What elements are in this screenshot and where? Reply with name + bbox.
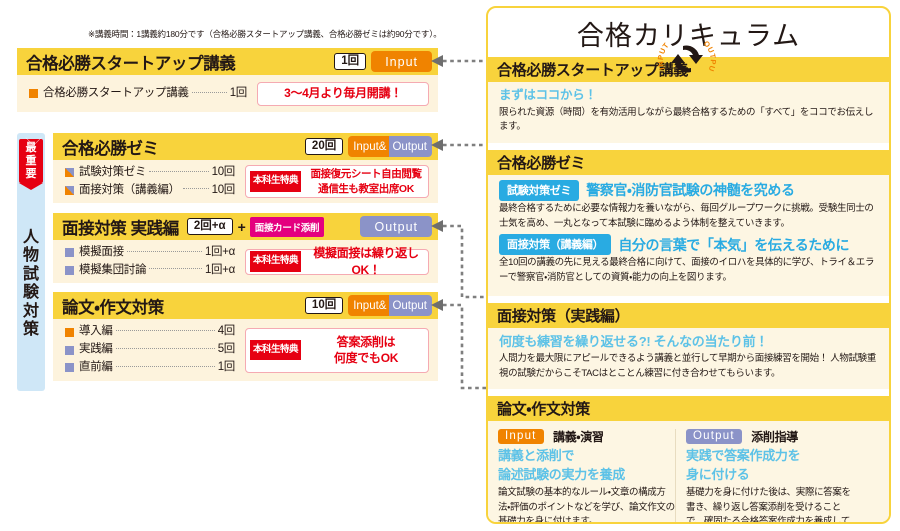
bullet-square-icon (65, 168, 74, 177)
rail-label-char: 物 (17, 247, 45, 265)
leader-dots (192, 92, 227, 93)
section-header: 合格必勝ゼミ (488, 150, 889, 175)
rail-vertical-label: 人物試験対策 (17, 229, 45, 339)
input-output-cycle-icon: INPUT OUTPUT (658, 30, 716, 88)
lesson-name: 試験対策ゼミ (79, 164, 146, 182)
callout-text: 3～4月より毎月開講！ (258, 85, 428, 101)
course-card-zemi: 合格必勝ゼミ 20回 Input& Output 試験対策ゼミ 10回 面接対策… (53, 133, 438, 203)
svg-text:INPUT: INPUT (656, 41, 671, 71)
lesson-count: 10回 (212, 164, 235, 182)
bullet-square-icon (65, 346, 74, 355)
section-description: 人間力を最大限にアピールできるよう講義と並行して早期から面接練習を開始！ 人物試… (499, 352, 880, 381)
lesson-list: 試験対策ゼミ 10回 面接対策（講義編） 10回 (65, 164, 235, 200)
output-chip: Output (686, 429, 742, 444)
sub-topic-row: 試験対策ゼミ 警察官・消防官試験の神髄を究める (499, 180, 880, 201)
column-lead: 実践で答案作成力を身に付ける (686, 447, 853, 483)
leader-dots (116, 348, 215, 349)
callout-benefit: 本科生特典 模擬面接は繰り返しOK！ (245, 249, 429, 275)
callout-benefit: 本科生特典 面接復元シート自由閲覧通信生も教室出席OK (245, 165, 429, 198)
card-body: 模擬面接 1回+α 模擬集団討論 1回+α 本科生特典 模擬面接は繰り返しOK！ (53, 240, 438, 283)
bullet-square-icon (65, 266, 74, 275)
bullet-square-icon (65, 248, 74, 257)
sparkle-icon: ＼ ／ (22, 138, 44, 146)
sub-topic-chip: 面接対策（講義編） (499, 234, 611, 255)
course-title: 論文・作文対策 (62, 294, 164, 318)
badge-output-segment: Output (360, 216, 432, 237)
list-item: 面接対策（講義編） 10回 (65, 182, 235, 200)
bullet-square-icon (65, 363, 74, 372)
section-header: 論文・作文対策 (488, 396, 889, 421)
lesson-count: 1回 (218, 359, 235, 377)
bullet-square-icon (65, 328, 74, 337)
section-body: まずはココから！ 限られた資源（時間）を有効活用しながら最終合格するための「すべ… (488, 82, 889, 143)
course-title: 合格必勝スタートアップ講義 (26, 50, 235, 74)
callout-text: 模擬面接は繰り返しOK！ (308, 245, 424, 277)
course-count-badge: 2回+α (187, 218, 233, 236)
input-output-badge: Input& Output (348, 295, 432, 316)
banner-char-2: 重 (19, 155, 43, 168)
column-output: Output 添削指導 実践で答案作成力を身に付ける 基礎力を身に付けた後は、実… (676, 427, 853, 524)
bullet-square-icon (65, 186, 74, 195)
detail-section-zemi: 合格必勝ゼミ 試験対策ゼミ 警察官・消防官試験の神髄を究める 最終合格するために… (488, 150, 889, 296)
list-item: 模擬面接 1回+α (65, 244, 235, 262)
card-header: 論文・作文対策 10回 Input& Output (53, 292, 438, 319)
sub-topic-chip: 試験対策ゼミ (499, 180, 579, 201)
sub-topic-lead: 警察官・消防官試験の神髄を究める (586, 180, 794, 200)
list-item: 試験対策ゼミ 10回 (65, 164, 235, 182)
plus-icon: + (238, 219, 246, 235)
card-header: 面接対策 実践編 2回+α + 面接カード添削 Output (53, 213, 438, 240)
leader-dots (183, 188, 209, 189)
list-item: 導入編 4回 (65, 323, 235, 341)
rail-label-char: 対 (17, 303, 45, 321)
section-description: 最終合格するために必要な情報力を養いながら、毎回グループワークに挑戦。受験生同士… (499, 202, 880, 231)
interview-card-correction-badge: 面接カード添削 (250, 217, 324, 237)
lesson-name: 模擬集団討論 (79, 262, 146, 280)
input-chip-label: 講義・演習 (553, 430, 604, 444)
input-chip: Input (498, 429, 544, 444)
list-item: 直前編 1回 (65, 359, 235, 377)
section-description: 全10回の講義の先に見える最終合格に向けて、面接のイロハを具体的に学び、トライ＆… (499, 256, 880, 285)
lesson-name: 直前編 (79, 359, 113, 377)
lesson-name: 面接対策（講義編） (79, 182, 180, 200)
section-body: 何度も練習を繰り返せる?! そんなの当たり前！ 人間力を最大限にアピールできるよ… (488, 328, 889, 390)
course-card-interview-practice: 面接対策 実践編 2回+α + 面接カード添削 Output 模擬面接 1回+α… (53, 213, 438, 283)
leader-dots (149, 171, 208, 172)
leader-dots (116, 330, 215, 331)
lesson-list: 模擬面接 1回+α 模擬集団討論 1回+α (65, 244, 235, 280)
lesson-name: 合格必勝スタートアップ講義 (43, 85, 189, 103)
course-card-essay: 論文・作文対策 10回 Input& Output 導入編 4回 実践編 (53, 292, 438, 381)
section-lead: まずはココから！ (499, 87, 880, 105)
callout-text: 答案添削は何度でもOK (308, 334, 424, 366)
cycle-label-input: INPUT (656, 41, 671, 71)
badge-input-segment: Input& (348, 136, 389, 157)
section-lead: 何度も練習を繰り返せる?! そんなの当たり前！ (499, 333, 880, 351)
leader-dots (127, 251, 202, 252)
lesson-count: 1回+α (205, 262, 235, 280)
course-title: 面接対策 実践編 (62, 215, 179, 239)
honka-benefit-badge: 本科生特典 (250, 171, 301, 191)
course-count-badge: 20回 (305, 138, 343, 156)
column-chip-row: Input 講義・演習 (498, 427, 675, 445)
course-card-startup: 合格必勝スタートアップ講義 1回 Input 合格必勝スタートアップ講義 1回 … (17, 48, 438, 112)
card-body: 試験対策ゼミ 10回 面接対策（講義編） 10回 本科生特典 面接復元シート自由… (53, 160, 438, 203)
rail-label-char: 人 (17, 229, 45, 247)
section-body: 試験対策ゼミ 警察官・消防官試験の神髄を究める 最終合格するために必要な情報力を… (488, 175, 889, 296)
detail-section-essay: 論文・作文対策 Input 講義・演習 講義と添削で論述試験の実力を養成 論文試… (488, 396, 889, 524)
card-body: 合格必勝スタートアップ講義 1回 3～4月より毎月開講！ (17, 75, 438, 112)
course-count-badge: 1回 (334, 53, 366, 71)
detail-section-interview: 面接対策（実践編） 何度も練習を繰り返せる?! そんなの当たり前！ 人間力を最大… (488, 303, 889, 390)
curriculum-detail-panel: 合格カリキュラム 合格必勝スタートアップ講義 まずはココから！ 限られた資源（時… (486, 6, 891, 524)
badge-input-segment: Input& (348, 295, 389, 316)
lesson-count: 5回 (218, 341, 235, 359)
sub-topic-lead: 自分の言葉で「本気」を伝えるために (618, 235, 849, 255)
course-title: 合格必勝ゼミ (62, 135, 159, 159)
input-output-badge: Input& Output (348, 136, 432, 157)
input-output-badge: Input (371, 51, 432, 72)
output-chip-label: 添削指導 (751, 430, 798, 444)
column-input: Input 講義・演習 講義と添削で論述試験の実力を養成 論文試験の基本的なルー… (498, 427, 675, 524)
list-item: 実践編 5回 (65, 341, 235, 359)
lesson-name: 実践編 (79, 341, 113, 359)
most-important-banner: ＼ ／ 最 重 要 (19, 139, 43, 183)
column-lead: 講義と添削で論述試験の実力を養成 (498, 447, 675, 483)
lesson-count: 10回 (212, 182, 235, 200)
course-count-badge: 10回 (305, 297, 343, 315)
lecture-time-note: ※講義時間：1講義約180分です（合格必勝スタートアップ講義、合格必勝ゼミは約9… (88, 28, 438, 40)
callout-benefit: 本科生特典 答案添削は何度でもOK (245, 328, 429, 373)
banner-char-3: 要 (19, 168, 43, 181)
list-item: 模擬集団討論 1回+α (65, 262, 235, 280)
sub-topic-row: 面接対策（講義編） 自分の言葉で「本気」を伝えるために (499, 234, 880, 255)
honka-benefit-badge: 本科生特典 (250, 340, 301, 360)
curriculum-left-column: ※講義時間：1講義約180分です（合格必勝スタートアップ講義、合格必勝ゼミは約9… (0, 0, 470, 531)
callout-schedule: 3～4月より毎月開講！ (257, 82, 429, 106)
section-header: 面接対策（実践編） (488, 303, 889, 328)
section-body: Input 講義・演習 講義と添削で論述試験の実力を養成 論文試験の基本的なルー… (488, 421, 889, 524)
badge-output-segment: Output (389, 136, 432, 157)
column-chip-row: Output 添削指導 (686, 427, 853, 445)
input-output-badge: Output (360, 216, 432, 237)
emphasis-rail: ＼ ／ 最 重 要 人物試験対策 (17, 133, 45, 391)
callout-text: 面接復元シート自由閲覧通信生も教室出席OK (308, 167, 424, 195)
lesson-name: 模擬面接 (79, 244, 124, 262)
badge-input-segment: Input (371, 51, 432, 72)
lesson-count: 4回 (218, 323, 235, 341)
rail-label-char: 験 (17, 284, 45, 302)
rail-label-char: 試 (17, 266, 45, 284)
column-description: 論文試験の基本的なルール・文章の構成方法・評価のポイントなどを学び、論文作文の基… (498, 486, 675, 524)
lesson-list: 導入編 4回 実践編 5回 直前編 1回 (65, 323, 235, 376)
list-item: 合格必勝スタートアップ講義 1回 (29, 85, 247, 103)
honka-benefit-badge: 本科生特典 (250, 251, 301, 271)
lesson-name: 導入編 (79, 323, 113, 341)
badge-output-segment: Output (389, 295, 432, 316)
bullet-square-icon (29, 89, 38, 98)
section-description: 限られた資源（時間）を有効活用しながら最終合格するための「すべて」をココでお伝え… (499, 106, 880, 135)
card-header: 合格必勝ゼミ 20回 Input& Output (53, 133, 438, 160)
column-description: 基礎力を身に付けた後は、実際に答案を書き、繰り返し答案添削を受けることで、確固た… (686, 486, 853, 524)
rail-label-char: 策 (17, 321, 45, 339)
leader-dots (149, 268, 202, 269)
lesson-count: 1回 (230, 85, 247, 103)
lesson-list: 合格必勝スタートアップ講義 1回 (29, 85, 247, 103)
leader-dots (116, 366, 215, 367)
card-body: 導入編 4回 実践編 5回 直前編 1回 本科生特典 (53, 319, 438, 381)
input-output-columns: Input 講義・演習 講義と添削で論述試験の実力を養成 論文試験の基本的なルー… (498, 427, 881, 524)
lesson-count: 1回+α (205, 244, 235, 262)
card-header: 合格必勝スタートアップ講義 1回 Input (17, 48, 438, 75)
